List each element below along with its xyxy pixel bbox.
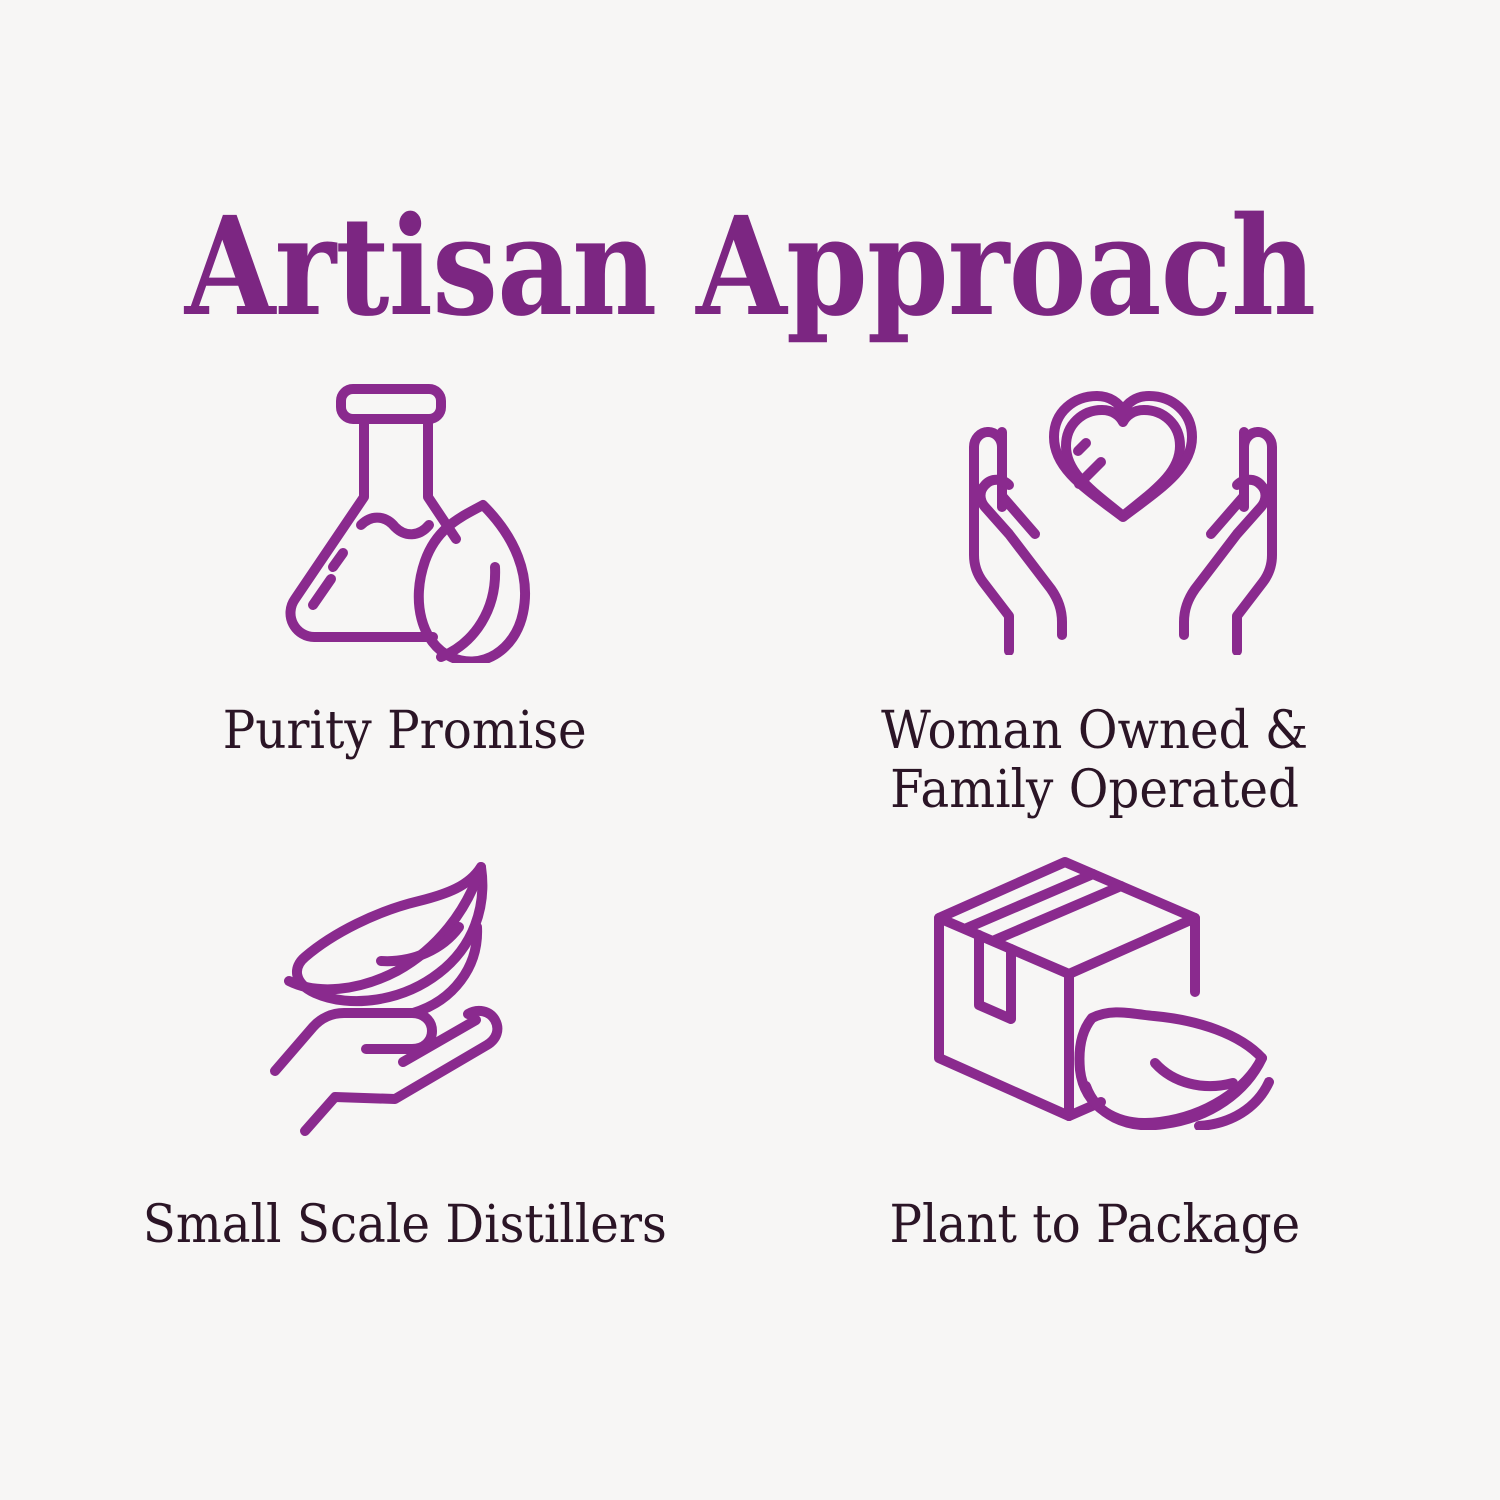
page-title: Artisan Approach [105,199,1395,335]
feature-item-woman-owned: Woman Owned & Family Operated [750,352,1440,822]
feature-label-line: Family Operated [882,761,1309,820]
feature-item-purity-promise: Purity Promise [60,352,750,822]
hands-holding-heart-icon [958,372,1288,672]
feature-label-small-scale-distillers: Small Scale Distillers [143,1196,667,1255]
leaf-in-open-hand-icon [263,844,523,1144]
feature-label-line: Purity Promise [223,702,587,761]
feature-item-small-scale-distillers: Small Scale Distillers [60,822,750,1292]
feature-label-line: Woman Owned & [882,702,1309,761]
box-with-leaf-icon [917,840,1317,1140]
feature-label-plant-to-package: Plant to Package [890,1196,1301,1255]
artisan-approach-panel: Artisan Approach [0,0,1500,1500]
feature-item-plant-to-package: Plant to Package [750,822,1440,1292]
feature-label-purity-promise: Purity Promise [223,702,587,761]
feature-label-line: Plant to Package [890,1196,1301,1255]
flask-leaf-icon [273,368,553,668]
feature-label-woman-owned: Woman Owned & Family Operated [882,702,1309,821]
feature-grid: Purity Promise [60,352,1440,1292]
feature-label-line: Small Scale Distillers [143,1196,667,1255]
